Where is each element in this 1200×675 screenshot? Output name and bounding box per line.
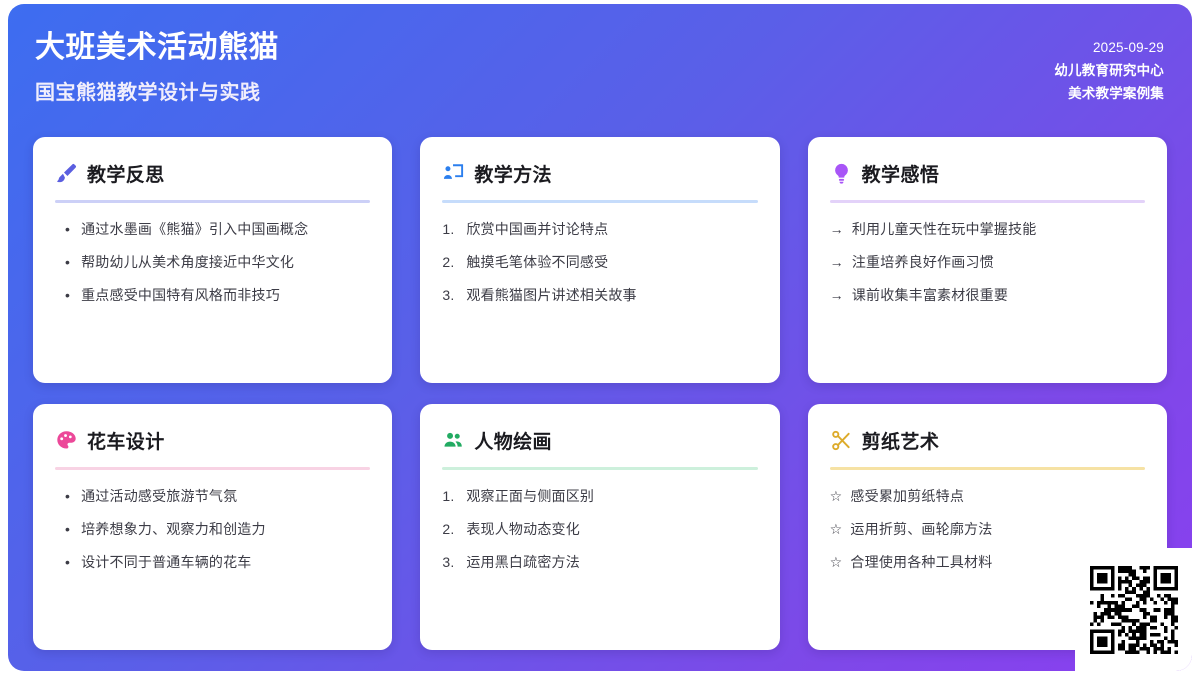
- list-item-text: 课前收集丰富素材很重要: [852, 285, 1145, 306]
- card-header: 剪纸艺术: [830, 426, 1145, 454]
- list-item-text: 通过活动感受旅游节气氛: [81, 486, 370, 507]
- list-item-text: 观察正面与侧面区别: [466, 486, 757, 507]
- list-item-text: 利用儿童天性在玩中掌握技能: [852, 219, 1145, 240]
- card-grid: 教学反思•通过水墨画《熊猫》引入中国画概念•帮助幼儿从美术角度接近中华文化•重点…: [33, 137, 1167, 650]
- list-marker: ☆: [830, 552, 843, 573]
- card-title: 剪纸艺术: [862, 427, 940, 454]
- list-item: •重点感受中国特有风格而非技巧: [55, 285, 370, 306]
- card-title: 教学感悟: [862, 160, 940, 187]
- card-divider: [55, 200, 370, 203]
- list-item: •帮助幼儿从美术角度接近中华文化: [55, 252, 370, 273]
- card-divider: [830, 200, 1145, 203]
- list-item: 3.观看熊猫图片讲述相关故事: [442, 285, 757, 306]
- card-header: 人物绘画: [442, 426, 757, 454]
- meta-date: 2025-09-29: [1054, 36, 1164, 59]
- paintbrush-icon: [55, 162, 78, 185]
- list-marker: 2.: [442, 519, 458, 540]
- card-title: 人物绘画: [474, 427, 552, 454]
- qr-panel: [1075, 548, 1192, 671]
- meta-organization: 幼儿教育研究中心: [1054, 59, 1164, 82]
- list-marker: →: [830, 219, 844, 240]
- list-item: 2.触摸毛笔体验不同感受: [442, 252, 757, 273]
- slide-canvas: 大班美术活动熊猫 国宝熊猫教学设计与实践 2025-09-29 幼儿教育研究中心…: [8, 4, 1192, 671]
- content-card[interactable]: 教学方法1.欣赏中国画并讨论特点2.触摸毛笔体验不同感受3.观看熊猫图片讲述相关…: [420, 137, 779, 383]
- card-list: •通过活动感受旅游节气氛•培养想象力、观察力和创造力•设计不同于普通车辆的花车: [55, 486, 370, 573]
- people-icon: [442, 429, 465, 452]
- list-item: •通过活动感受旅游节气氛: [55, 486, 370, 507]
- scissors-icon: [830, 429, 853, 452]
- list-item: •培养想象力、观察力和创造力: [55, 519, 370, 540]
- list-marker: 2.: [442, 252, 458, 273]
- list-item-text: 观看熊猫图片讲述相关故事: [466, 285, 757, 306]
- meta-collection: 美术教学案例集: [1054, 82, 1164, 105]
- card-title: 教学反思: [87, 160, 165, 187]
- list-item-text: 运用折剪、画轮廓方法: [850, 519, 1145, 540]
- list-item-text: 通过水墨画《熊猫》引入中国画概念: [81, 219, 370, 240]
- list-marker: →: [830, 285, 844, 306]
- list-item-text: 欣赏中国画并讨论特点: [466, 219, 757, 240]
- presentation-teacher-icon: [442, 162, 465, 185]
- list-item: →课前收集丰富素材很重要: [830, 285, 1145, 306]
- list-item-text: 感受累加剪纸特点: [850, 486, 1145, 507]
- card-list: →利用儿童天性在玩中掌握技能→注重培养良好作画习惯→课前收集丰富素材很重要: [830, 219, 1145, 306]
- list-item: 1.欣赏中国画并讨论特点: [442, 219, 757, 240]
- list-marker: →: [830, 252, 844, 273]
- list-item-text: 运用黑白疏密方法: [466, 552, 757, 573]
- card-list: 1.观察正面与侧面区别2.表现人物动态变化3.运用黑白疏密方法: [442, 486, 757, 573]
- card-header: 教学感悟: [830, 159, 1145, 187]
- header-meta: 2025-09-29 幼儿教育研究中心 美术教学案例集: [1054, 36, 1164, 106]
- content-card[interactable]: 花车设计•通过活动感受旅游节气氛•培养想象力、观察力和创造力•设计不同于普通车辆…: [33, 404, 392, 650]
- list-item-text: 表现人物动态变化: [466, 519, 757, 540]
- list-item: ☆运用折剪、画轮廓方法: [830, 519, 1145, 540]
- title-block: 大班美术活动熊猫 国宝熊猫教学设计与实践: [35, 28, 279, 105]
- list-item: →注重培养良好作画习惯: [830, 252, 1145, 273]
- card-divider: [55, 467, 370, 470]
- list-item-text: 注重培养良好作画习惯: [852, 252, 1145, 273]
- lightbulb-icon: [830, 162, 853, 185]
- list-marker: •: [65, 252, 70, 273]
- list-item-text: 重点感受中国特有风格而非技巧: [81, 285, 370, 306]
- card-list: •通过水墨画《熊猫》引入中国画概念•帮助幼儿从美术角度接近中华文化•重点感受中国…: [55, 219, 370, 306]
- page-title: 大班美术活动熊猫: [35, 28, 279, 67]
- list-marker: •: [65, 519, 70, 540]
- list-marker: 3.: [442, 285, 458, 306]
- palette-icon: [55, 429, 78, 452]
- list-marker: •: [65, 552, 70, 573]
- list-marker: •: [65, 219, 70, 240]
- card-divider: [442, 200, 757, 203]
- card-list: 1.欣赏中国画并讨论特点2.触摸毛笔体验不同感受3.观看熊猫图片讲述相关故事: [442, 219, 757, 306]
- list-marker: 3.: [442, 552, 458, 573]
- list-item: 2.表现人物动态变化: [442, 519, 757, 540]
- list-item-text: 培养想象力、观察力和创造力: [81, 519, 370, 540]
- list-marker: ☆: [830, 486, 843, 507]
- list-item-text: 设计不同于普通车辆的花车: [81, 552, 370, 573]
- list-item: •设计不同于普通车辆的花车: [55, 552, 370, 573]
- list-item-text: 触摸毛笔体验不同感受: [466, 252, 757, 273]
- list-item: →利用儿童天性在玩中掌握技能: [830, 219, 1145, 240]
- list-marker: ☆: [830, 519, 843, 540]
- list-marker: •: [65, 486, 70, 507]
- card-divider: [830, 467, 1145, 470]
- card-header: 教学方法: [442, 159, 757, 187]
- page-subtitle: 国宝熊猫教学设计与实践: [35, 76, 279, 105]
- content-card[interactable]: 教学感悟→利用儿童天性在玩中掌握技能→注重培养良好作画习惯→课前收集丰富素材很重…: [808, 137, 1167, 383]
- list-item: •通过水墨画《熊猫》引入中国画概念: [55, 219, 370, 240]
- list-item: 3.运用黑白疏密方法: [442, 552, 757, 573]
- list-item: 1.观察正面与侧面区别: [442, 486, 757, 507]
- list-marker: 1.: [442, 486, 458, 507]
- slide-header: 大班美术活动熊猫 国宝熊猫教学设计与实践 2025-09-29 幼儿教育研究中心…: [8, 4, 1192, 132]
- card-title: 花车设计: [87, 427, 165, 454]
- list-item: ☆感受累加剪纸特点: [830, 486, 1145, 507]
- qr-code[interactable]: [1090, 566, 1178, 654]
- list-marker: •: [65, 285, 70, 306]
- list-marker: 1.: [442, 219, 458, 240]
- card-header: 教学反思: [55, 159, 370, 187]
- content-card[interactable]: 教学反思•通过水墨画《熊猫》引入中国画概念•帮助幼儿从美术角度接近中华文化•重点…: [33, 137, 392, 383]
- card-divider: [442, 467, 757, 470]
- content-card[interactable]: 人物绘画1.观察正面与侧面区别2.表现人物动态变化3.运用黑白疏密方法: [420, 404, 779, 650]
- list-item-text: 帮助幼儿从美术角度接近中华文化: [81, 252, 370, 273]
- card-header: 花车设计: [55, 426, 370, 454]
- card-title: 教学方法: [474, 160, 552, 187]
